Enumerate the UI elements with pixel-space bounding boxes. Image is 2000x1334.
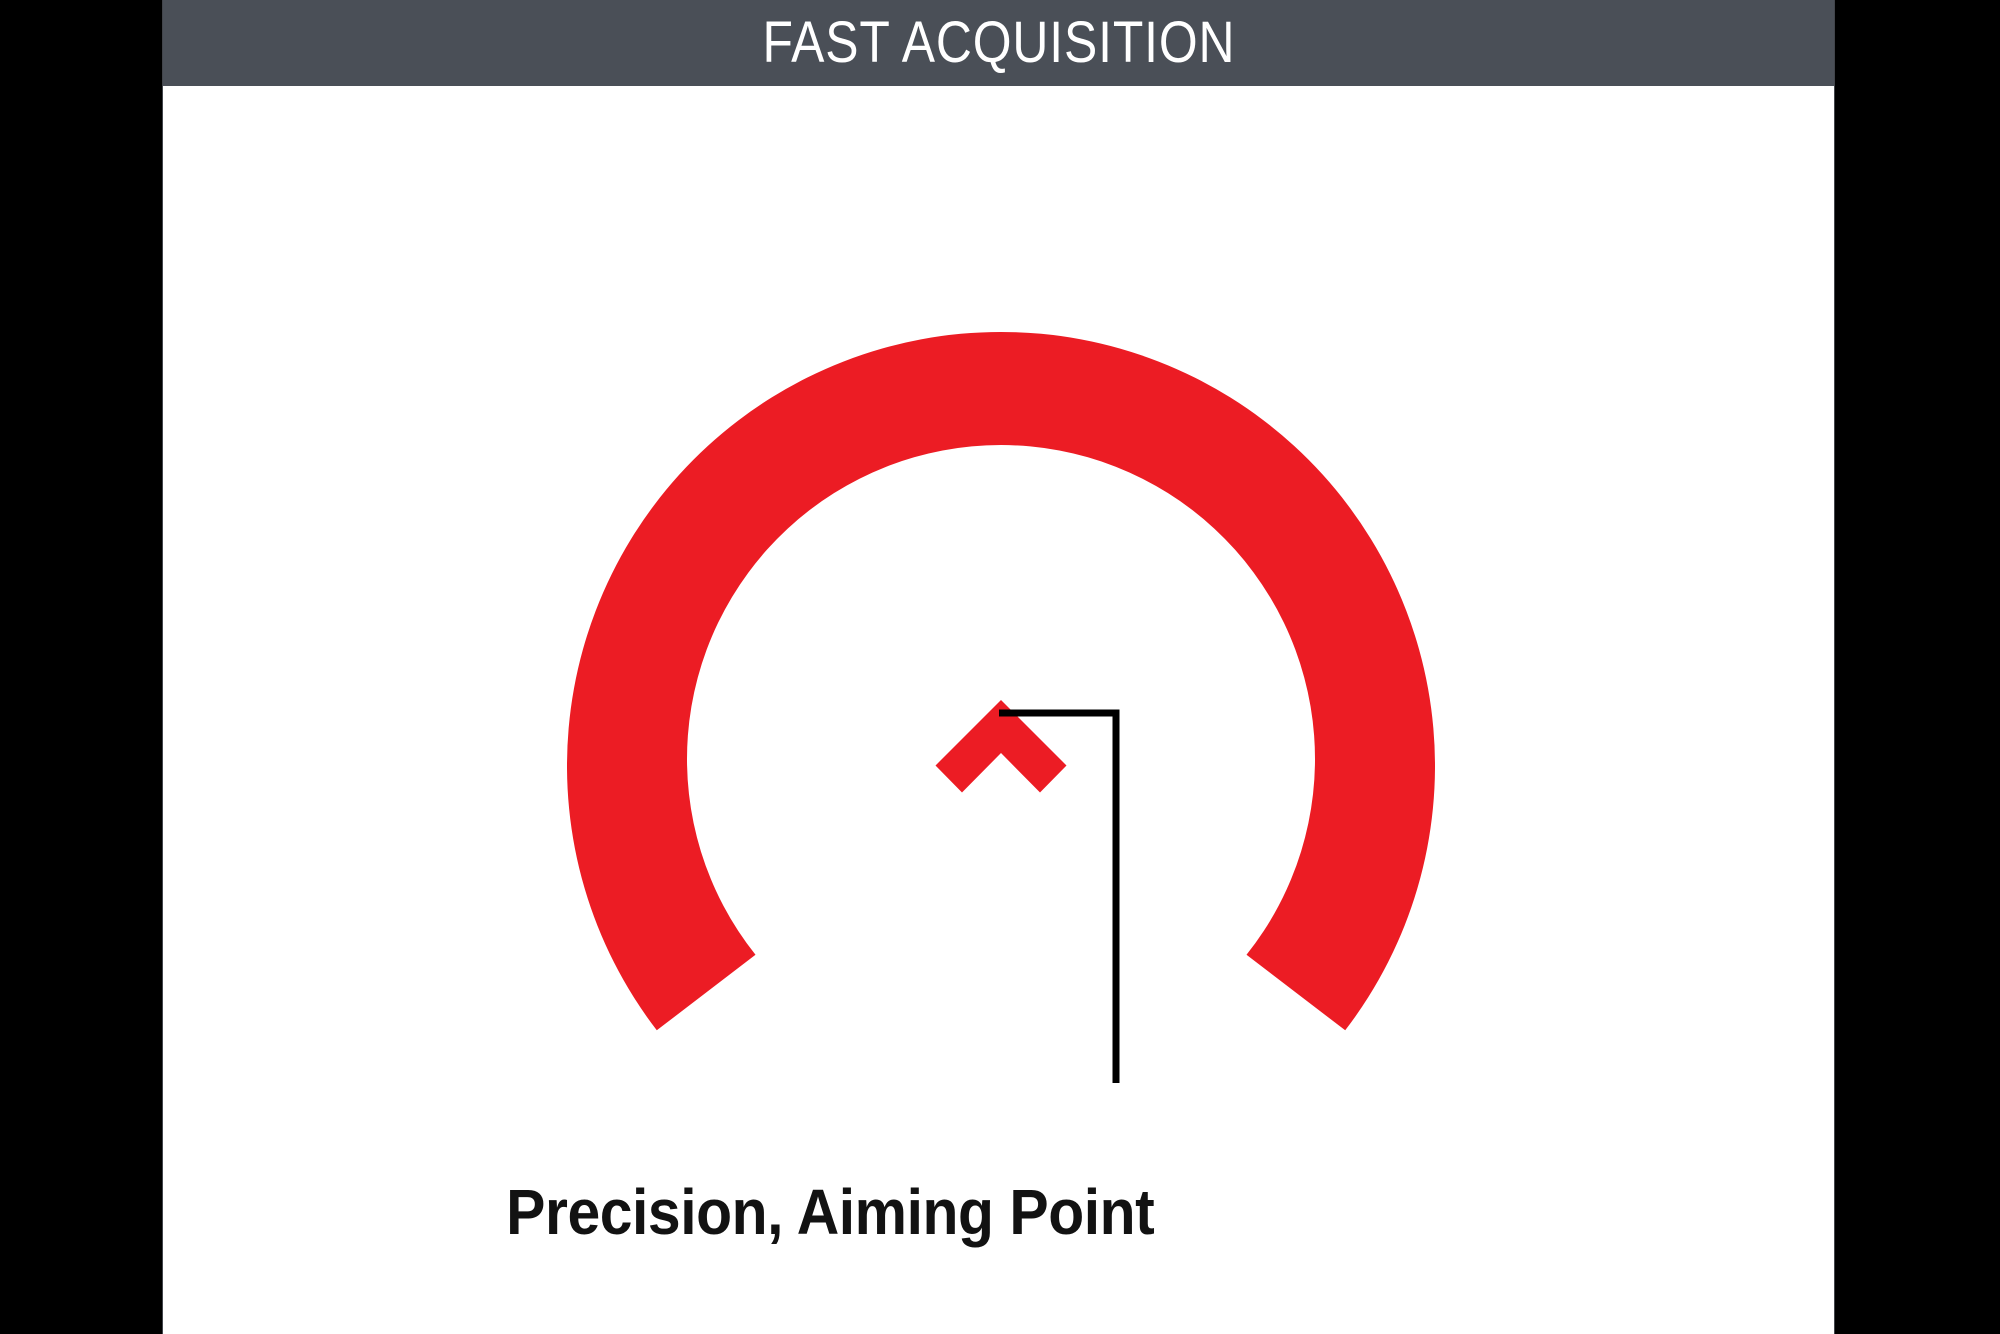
slide-title-bar: FAST ACQUISITION <box>163 0 1834 86</box>
reticle-caption-text: Precision, Aiming Point <box>506 1180 1154 1244</box>
slide-frame: FAST ACQUISITION Precision, Aiming Point <box>0 0 2000 1334</box>
reticle-diagram <box>163 86 1834 1334</box>
slide-canvas: FAST ACQUISITION Precision, Aiming Point <box>163 0 1834 1334</box>
slide-title: FAST ACQUISITION <box>762 14 1235 72</box>
outer-circle-ring-icon <box>567 332 1435 1030</box>
diagram-area: Precision, Aiming Point <box>163 86 1834 1334</box>
reticle-caption: Precision, Aiming Point <box>163 1180 1666 1244</box>
